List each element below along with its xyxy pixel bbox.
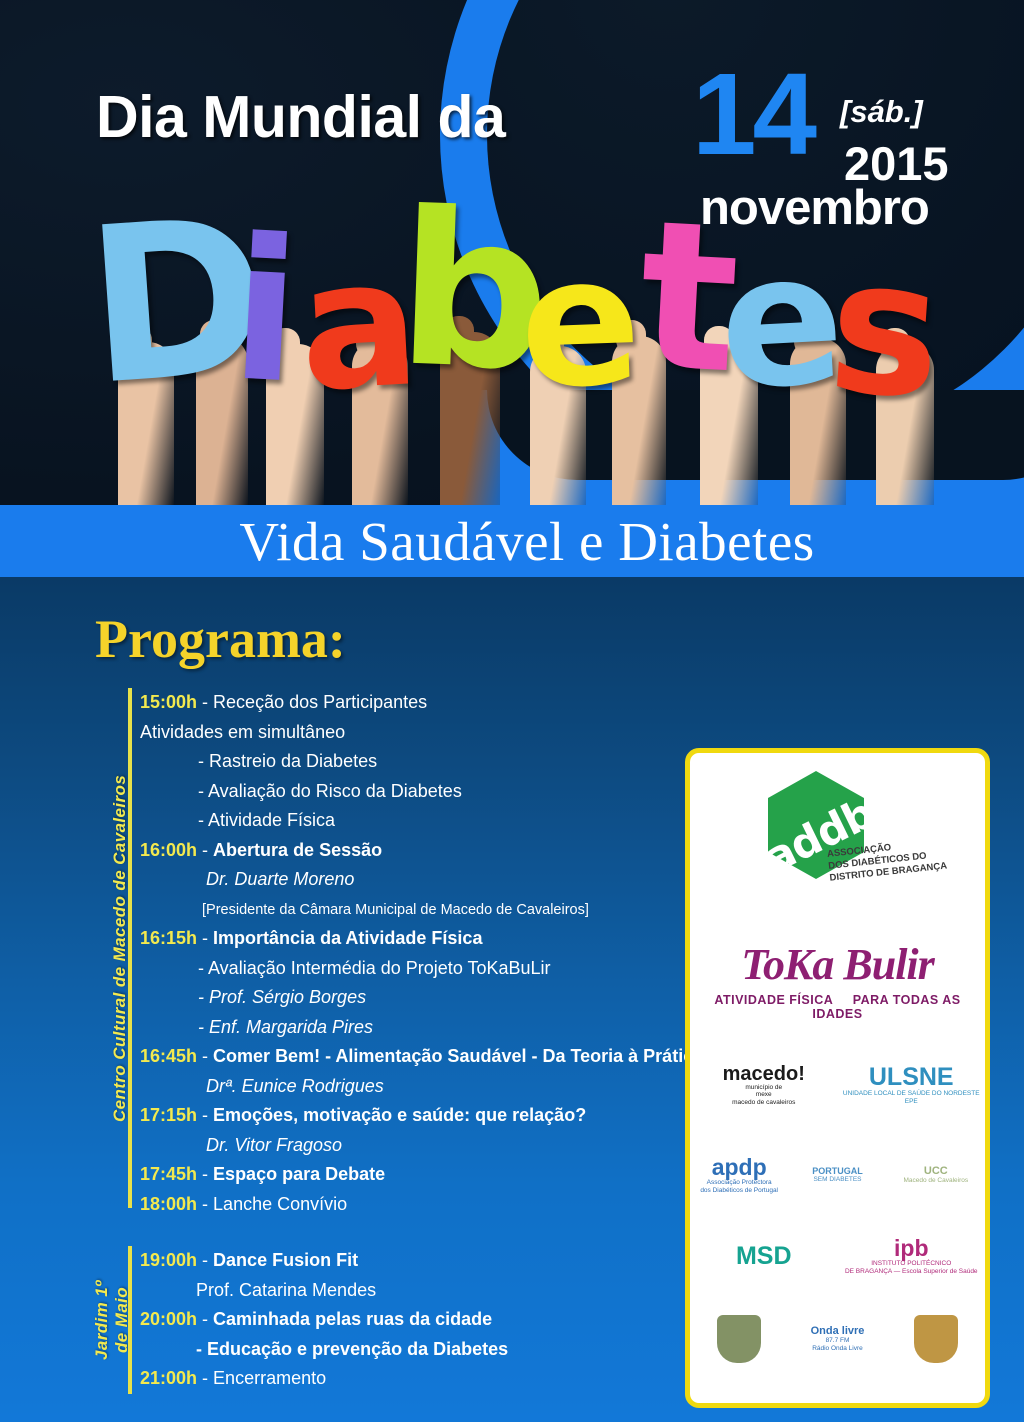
schedule-label: Comer Bem! - Alimentação Saudável - Da T… bbox=[213, 1046, 703, 1066]
schedule-label: Abertura de Sessão bbox=[213, 840, 382, 860]
sponsor-logo-title: macedo! bbox=[723, 1064, 805, 1084]
schedule-row: - Enf. Margarida Pires bbox=[140, 1013, 703, 1043]
tokabulir-wordmark: ToKa Bulir bbox=[690, 939, 985, 990]
sponsor-logo-radio-onda-livre: Onda livre87.7 FM Rádio Onda Livre bbox=[788, 1293, 886, 1385]
schedule-dash: - bbox=[197, 928, 213, 948]
diabetes-letter-e-4: e bbox=[517, 232, 644, 414]
schedule-row: Dr. Vitor Fragoso bbox=[140, 1131, 703, 1161]
schedule-dash: - bbox=[197, 1309, 213, 1329]
schedule-label: Encerramento bbox=[213, 1368, 326, 1388]
sponsor-logo-macedo-mexe: macedo!município de mexe macedo de caval… bbox=[690, 1039, 838, 1131]
program-heading: Programa: bbox=[95, 608, 346, 670]
venue-rule-2 bbox=[128, 1246, 132, 1394]
schedule-row: 21:00h - Encerramento bbox=[140, 1364, 508, 1394]
schedule-row: 19:00h - Dance Fusion Fit bbox=[140, 1246, 508, 1276]
page-title: Dia Mundial da bbox=[96, 83, 505, 151]
sponsor-logo-title: ipb bbox=[894, 1237, 929, 1260]
schedule-label: [Presidente da Câmara Municipal de Maced… bbox=[202, 902, 589, 918]
schedule-time: 21:00h bbox=[140, 1368, 197, 1388]
logo-tokabulir: ToKa Bulir ATIVIDADE FÍSICA PARA TODAS A… bbox=[690, 931, 985, 1039]
poster-root: Dia Mundial da 14 [sáb.] 2015 novembro D… bbox=[0, 0, 1024, 1422]
schedule-time: 20:00h bbox=[140, 1309, 197, 1329]
schedule-time: 16:00h bbox=[140, 840, 197, 860]
tokabulir-tagline: ATIVIDADE FÍSICA PARA TODAS AS IDADES bbox=[690, 993, 985, 1021]
sponsor-crest-icon bbox=[914, 1315, 958, 1363]
schedule-row: Atividades em simultâneo bbox=[140, 718, 703, 748]
sponsor-logo-subtitle: SEM DIABETES bbox=[813, 1176, 861, 1184]
schedule-row: 15:00h - Receção dos Participantes bbox=[140, 688, 703, 718]
tokabulir-tagline-right: PARA TODAS AS IDADES bbox=[812, 993, 960, 1021]
schedule-row: - Atividade Física bbox=[140, 806, 703, 836]
date-weekday: [sáb.] bbox=[840, 94, 923, 130]
schedule-row: 20:00h - Caminhada pelas ruas da cidade bbox=[140, 1305, 508, 1335]
schedule-row: 18:00h - Lanche Convívio bbox=[140, 1190, 703, 1220]
schedule-time: 18:00h bbox=[140, 1194, 197, 1214]
schedule-label: Prof. Catarina Mendes bbox=[196, 1280, 376, 1300]
poster-header: Dia Mundial da 14 [sáb.] 2015 novembro D… bbox=[0, 0, 1024, 512]
schedule-label: Dance Fusion Fit bbox=[213, 1250, 358, 1270]
venue-rule-1 bbox=[128, 688, 132, 1208]
schedule-time: 16:45h bbox=[140, 1046, 197, 1066]
schedule-row: - Prof. Sérgio Borges bbox=[140, 983, 703, 1013]
sponsor-logo-subtitle: município de mexe macedo de cavaleiros bbox=[732, 1084, 795, 1107]
venue-label-2: Jardim 1º de Maio bbox=[92, 1246, 132, 1394]
schedule-row: - Educação e prevenção da Diabetes bbox=[140, 1335, 508, 1365]
venue-label-1: Centro Cultural de Macedo de Cavaleiros bbox=[110, 688, 130, 1208]
schedule-label: - Rastreio da Diabetes bbox=[198, 751, 377, 771]
sponsor-crest-icon bbox=[717, 1315, 761, 1363]
schedule-label: Lanche Convívio bbox=[213, 1194, 347, 1214]
sponsor-row-1: macedo!município de mexe macedo de caval… bbox=[690, 1039, 985, 1131]
schedule-row: Prof. Catarina Mendes bbox=[140, 1276, 508, 1306]
sponsor-logo-subtitle: 87.7 FM Rádio Onda Livre bbox=[812, 1337, 863, 1352]
sponsor-logo-ucc-macedo: UCCMacedo de Cavaleiros bbox=[887, 1131, 985, 1219]
sponsor-logo-brasao-municipio bbox=[690, 1293, 788, 1385]
sponsor-row-2: apdpAssociação Protectora dos Diabéticos… bbox=[690, 1131, 985, 1219]
sponsor-logo-ipb: ipbINSTITUTO POLITÉCNICO DE BRAGANÇA — E… bbox=[838, 1219, 986, 1293]
diabetes-letter-s-7: s bbox=[824, 232, 947, 425]
sponsor-logo-title: ULSNE bbox=[869, 1065, 954, 1090]
schedule-time: 16:15h bbox=[140, 928, 197, 948]
schedule-dash: - bbox=[197, 1368, 213, 1388]
sponsor-logo-grid: macedo!município de mexe macedo de caval… bbox=[690, 1039, 985, 1385]
sponsor-logo-title: MSD bbox=[736, 1244, 792, 1269]
schedule-row: - Avaliação Intermédia do Projeto ToKaBu… bbox=[140, 954, 703, 984]
sponsor-logo-ulsne: ULSNEUNIDADE LOCAL DE SAÚDE DO NORDESTE … bbox=[838, 1039, 986, 1131]
schedule-row: [Presidente da Câmara Municipal de Maced… bbox=[140, 895, 703, 925]
sponsor-logo-title: UCC bbox=[924, 1166, 948, 1177]
schedule-label: - Atividade Física bbox=[198, 810, 335, 830]
schedule-label: Espaço para Debate bbox=[213, 1164, 385, 1184]
schedule-label: Atividades em simultâneo bbox=[140, 722, 345, 742]
schedule-label: Drª. Eunice Rodrigues bbox=[206, 1076, 384, 1096]
schedule-dash: - bbox=[197, 692, 213, 712]
schedule-label: - Enf. Margarida Pires bbox=[198, 1017, 373, 1037]
schedule-label: Dr. Duarte Moreno bbox=[206, 869, 354, 889]
sponsor-logo-title: Onda livre bbox=[811, 1326, 865, 1337]
schedule-label: Importância da Atividade Física bbox=[213, 928, 482, 948]
sponsor-logo-portugal-sem-diabetes: PORTUGALSEM DIABETES bbox=[788, 1131, 886, 1219]
schedule-row: Dr. Duarte Moreno bbox=[140, 865, 703, 895]
schedule-time: 17:45h bbox=[140, 1164, 197, 1184]
logo-addb: addb ASSOCIAÇÃO DOS DIABÉTICOS DO DISTRI… bbox=[690, 753, 985, 931]
sponsor-logo-title: apdp bbox=[712, 1156, 767, 1179]
schedule-rows-2: 19:00h - Dance Fusion FitProf. Catarina … bbox=[140, 1246, 508, 1394]
sponsor-row-4: Onda livre87.7 FM Rádio Onda Livre bbox=[690, 1293, 985, 1385]
schedule-row: - Avaliação do Risco da Diabetes bbox=[140, 777, 703, 807]
schedule-row: 16:45h - Comer Bem! - Alimentação Saudáv… bbox=[140, 1042, 703, 1072]
schedule-row: 17:15h - Emoções, motivação e saúde: que… bbox=[140, 1101, 703, 1131]
schedule-row: 17:45h - Espaço para Debate bbox=[140, 1160, 703, 1190]
schedule-dash: - bbox=[197, 1046, 213, 1066]
schedule-row: - Rastreio da Diabetes bbox=[140, 747, 703, 777]
schedule-row: 16:15h - Importância da Atividade Física bbox=[140, 924, 703, 954]
date-block: 14 [sáb.] 2015 novembro bbox=[692, 62, 962, 222]
schedule-block-1: Centro Cultural de Macedo de Cavaleiros1… bbox=[0, 688, 700, 1208]
date-day: 14 bbox=[692, 56, 813, 172]
date-month: novembro bbox=[700, 180, 929, 236]
schedule-label: Caminhada pelas ruas da cidade bbox=[213, 1309, 492, 1329]
subtitle-band: Vida Saudável e Diabetes bbox=[0, 505, 1024, 577]
sponsor-logo-subtitle: Macedo de Cavaleiros bbox=[903, 1177, 968, 1185]
schedule-dash: - bbox=[197, 1194, 213, 1214]
sponsor-logo-subtitle: INSTITUTO POLITÉCNICO DE BRAGANÇA — Esco… bbox=[845, 1260, 978, 1275]
schedule-row: Drª. Eunice Rodrigues bbox=[140, 1072, 703, 1102]
schedule-time: 17:15h bbox=[140, 1105, 197, 1125]
schedule-block-2: Jardim 1º de Maio19:00h - Dance Fusion F… bbox=[0, 1246, 700, 1394]
tokabulir-tagline-left: ATIVIDADE FÍSICA bbox=[714, 993, 832, 1007]
sponsor-logo-title: PORTUGAL bbox=[812, 1167, 863, 1176]
schedule-time: 19:00h bbox=[140, 1250, 197, 1270]
schedule-row: 16:00h - Abertura de Sessão bbox=[140, 836, 703, 866]
sponsor-logo-brasao-aguia bbox=[887, 1293, 985, 1385]
schedule-dash: - bbox=[197, 1250, 213, 1270]
schedule-rows-1: 15:00h - Receção dos ParticipantesAtivid… bbox=[140, 688, 703, 1219]
sponsor-logo-apdp: apdpAssociação Protectora dos Diabéticos… bbox=[690, 1131, 788, 1219]
sponsor-logo-msd: MSD bbox=[690, 1219, 838, 1293]
schedule-label: - Avaliação do Risco da Diabetes bbox=[198, 781, 462, 801]
sponsor-logo-subtitle: Associação Protectora dos Diabéticos de … bbox=[700, 1179, 778, 1194]
schedule-dash: - bbox=[197, 840, 213, 860]
subtitle-text: Vida Saudável e Diabetes bbox=[0, 510, 1024, 573]
schedule-label: - Educação e prevenção da Diabetes bbox=[196, 1339, 508, 1359]
schedule-dash: - bbox=[197, 1164, 213, 1184]
schedule-label: Receção dos Participantes bbox=[213, 692, 427, 712]
diabetes-letter-i-1: i bbox=[227, 212, 304, 411]
schedule-dash: - bbox=[197, 1105, 213, 1125]
sponsor-logo-subtitle: UNIDADE LOCAL DE SAÚDE DO NORDESTE EPE bbox=[838, 1090, 986, 1105]
schedule-label: - Prof. Sérgio Borges bbox=[198, 987, 366, 1007]
sponsors-panel: addb ASSOCIAÇÃO DOS DIABÉTICOS DO DISTRI… bbox=[685, 748, 990, 1408]
schedule-label: Emoções, motivação e saúde: que relação? bbox=[213, 1105, 586, 1125]
schedule-time: 15:00h bbox=[140, 692, 197, 712]
sponsor-row-3: MSDipbINSTITUTO POLITÉCNICO DE BRAGANÇA … bbox=[690, 1219, 985, 1293]
schedule-label: Dr. Vitor Fragoso bbox=[206, 1135, 342, 1155]
schedule-label: - Avaliação Intermédia do Projeto ToKaBu… bbox=[198, 958, 551, 978]
